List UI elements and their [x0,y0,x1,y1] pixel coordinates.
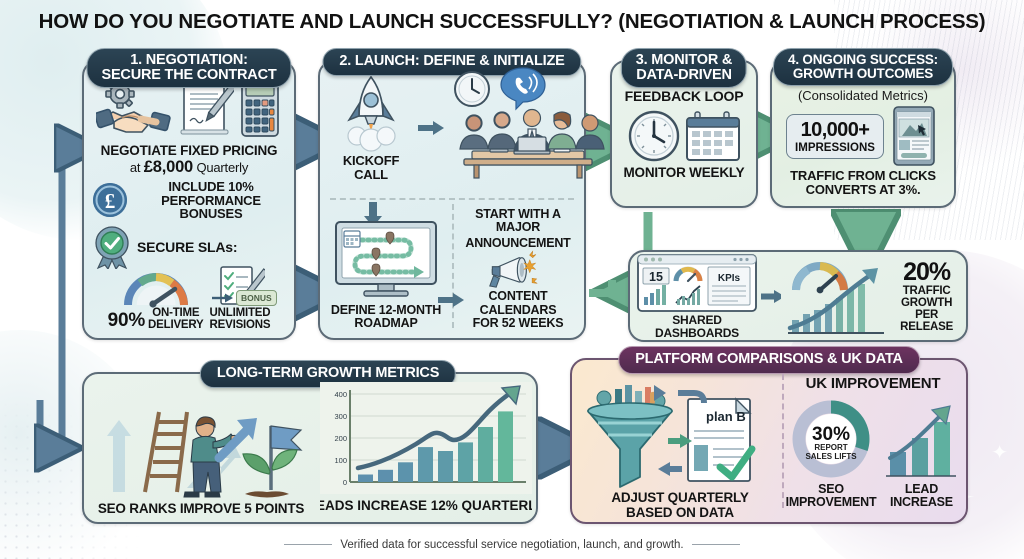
bonus-line-2: PERFORMANCE BONUSES [134,194,288,222]
panel-launch[interactable]: 2. LAUNCH: DEFINE & INITIALIZE KICKOFF C… [318,60,586,340]
ongoing-caption-1: TRAFFIC FROM CLICKS [772,169,954,183]
sparkle-icon: ✦ [991,443,1008,463]
badge-line-2: DATA-DRIVEN [636,67,732,83]
roadmap-monitor-icon [332,220,440,302]
negotiate-price-line: at £8,000 Quarterly [84,159,294,176]
donut-sub-1: REPORT [814,443,847,452]
calendar-line-2: FOR 52 WEEKS [473,317,564,330]
seo-ranks-caption: SEO RANKS IMPROVE 5 POINTS [98,502,304,516]
announcement-cell: START WITH A MAJOR ANNOUNCEMENT CONTENT … [452,204,584,338]
panel-ongoing-badge: 4. ONGOING SUCCESS: GROWTH OUTCOMES [773,48,953,86]
badge-line-1: 1. NEGOTIATION: [130,52,248,68]
sla-metric-line-2: DELIVERY [148,319,204,331]
roadmap-line-1: DEFINE 12-MONTH [331,304,441,317]
panel-ongoing-success[interactable]: 4. ONGOING SUCCESS: GROWTH OUTCOMES (Con… [770,60,956,208]
gauge-and-growth-icon [784,256,890,336]
monitor-caption: MONITOR WEEKLY [612,166,756,180]
impressions-label: IMPRESSIONS [795,142,875,154]
uk-title: UK IMPROVEMENT [786,376,960,392]
lead-increase-bar-chart [882,396,960,482]
bonus-row: £ INCLUDE 10% PERFORMANCE BONUSES BONUS [84,177,294,221]
leads-chart: 0 100 200 300 400 LEADS INCREASE 12% QUA… [320,382,532,518]
svg-text:400: 400 [334,390,347,399]
calendar-line-1: CONTENT CALENDARS [456,290,580,317]
verified-badge-icon [92,225,132,269]
footer-rule-right [692,544,740,545]
sales-lift-donut-chart: 30% REPORT SALES LIFTS [788,396,874,482]
growth-line-2: GROWTH [893,297,960,309]
price-suffix: Quarterly [196,160,248,175]
panel-negotiation-badge: 1. NEGOTIATION: SECURE THE CONTRACT [86,48,291,88]
launch-top-row: KICKOFF CALL [320,62,584,180]
svg-text:200: 200 [334,434,347,443]
footer-text: Verified data for successful service neg… [340,539,683,551]
platform-divider-vertical [782,374,784,508]
leads-chart-caption: LEADS INCREASE 12% QUARTERLY [320,498,532,513]
panel-platform-comparisons[interactable]: PLATFORM COMPARISONS & UK DATA plan B [570,358,968,524]
sla-row: SECURE SLAs: [84,221,294,269]
sla-metric-line-1: ON-TIME [148,307,204,319]
announce-line-2: ANNOUNCEMENT [465,237,570,250]
dashboard-tile-number: 15 [649,270,663,284]
panel-platform-badge: PLATFORM COMPARISONS & UK DATA [618,346,920,374]
announce-line-1: START WITH A MAJOR [456,208,580,235]
growth-trend-graphic [784,256,890,336]
clock-icon [626,108,682,164]
price-value: £8,000 [144,158,193,176]
seo-improvement-line-1: SEO [786,483,877,496]
seo-improvement-line-2: IMPROVEMENT [786,496,877,509]
panel-monitor-badge: 3. MONITOR & DATA-DRIVEN [621,48,747,88]
team-meeting-icon [450,107,606,181]
arrow-right-icon [212,293,234,303]
growth-value: 20% [893,259,960,285]
impressions-callout: 10,000+ IMPRESSIONS [786,114,884,159]
funnel-caption-1: ADJUST QUARTERLY [611,491,748,505]
roadmap-cell: DEFINE 12-MONTH ROADMAP [320,204,452,338]
donut-sub-2: SALES LIFTS [805,452,857,461]
dashboard-kpi-label: KPIs [718,273,741,284]
badge-line-2: SECURE THE CONTRACT [101,67,276,83]
arrow-right-icon [438,292,464,308]
revisions-line-2: REVISIONS [210,319,271,331]
calendar-icon [684,110,742,162]
lead-increase-line-2: INCREASE [882,496,960,509]
tablet-click-icon [888,105,940,167]
pound-coin-icon: £ [90,180,130,220]
growth-stat: 20% TRAFFIC GROWTH PER RELEASE [893,259,960,334]
negotiate-headline: NEGOTIATE FIXED PRICING [84,144,294,158]
arrow-right-icon [418,120,444,136]
seo-ranks-cell: SEO RANKS IMPROVE 5 POINTS [92,384,310,516]
phone-call-bubble-icon [500,67,546,111]
panel-monitor[interactable]: 3. MONITOR & DATA-DRIVEN FEEDBACK LOOP [610,60,758,208]
plan-b-label: plan B [706,409,746,424]
badge-line-2: GROWTH OUTCOMES [793,66,933,81]
funnel-cell: plan B ADJUST QUARTERLY BASED ON DATA [578,378,782,520]
launch-divider-horizontal [330,198,574,200]
panel-longterm-growth[interactable]: LONG-TERM GROWTH METRICS [82,372,538,524]
revisions-line-1: UNLIMITED [210,307,271,319]
roadmap-line-2: ROADMAP [354,317,417,330]
leads-bar-chart-svg: 0 100 200 300 400 LEADS INCREASE 12% QUA… [320,382,532,518]
footer-caption: Verified data for successful service neg… [0,539,1024,551]
lead-increase-line-1: LEAD [882,483,960,496]
panel-negotiation[interactable]: 1. NEGOTIATION: SECURE THE CONTRACT [82,60,296,340]
growth-line-1: TRAFFIC [893,285,960,297]
sla-title: SECURE SLAs: [137,240,237,255]
ongoing-caption-2: CONVERTS AT 3%. [772,183,954,197]
funnel-plan-b-icon: plan B [582,383,778,491]
bonus-line-1: INCLUDE 10% [134,180,288,194]
dashboard-window-icon: 15 KPIs [636,253,758,313]
ladder-growth-icon [95,396,307,502]
badge-line-1: 3. MONITOR & [636,52,732,68]
growth-line-3: PER RELEASE [893,309,960,333]
monitor-subtitle: FEEDBACK LOOP [612,89,756,104]
rocket-icon [341,74,401,152]
ongoing-subtitle: (Consolidated Metrics) [772,88,954,103]
panel-dashboards[interactable]: 15 KPIs SHARED DASHBOARDS [628,250,968,342]
funnel-caption-2: BASED ON DATA [626,506,734,520]
megaphone-icon [464,250,572,289]
svg-text:£: £ [105,189,116,213]
price-prefix: at [130,160,140,175]
clock-icon [452,69,492,109]
gauge-icon [123,269,189,309]
footer-rule-left [284,544,332,545]
arrow-right-icon [761,289,781,304]
launch-bottom-row: DEFINE 12-MONTH ROADMAP START WITH A MAJ… [320,204,584,338]
badge-line-1: 4. ONGOING SUCCESS: [788,52,938,67]
uk-improvement-cell: UK IMPROVEMENT 30% REPORT SALES LIFTS SE… [786,376,960,516]
dashboards-caption: SHARED DASHBOARDS [636,314,758,339]
svg-text:100: 100 [334,456,347,465]
svg-text:0: 0 [343,478,347,487]
page-title: HOW DO YOU NEGOTIATE AND LAUNCH SUCCESSF… [0,10,1024,34]
impressions-value: 10,000+ [795,119,875,142]
sla-percent: 90% [108,311,145,331]
donut-value: 30% [812,424,850,445]
bonus-chip: BONUS [236,290,277,306]
kickoff-label: KICKOFF CALL [328,154,414,182]
svg-text:300: 300 [334,412,347,421]
